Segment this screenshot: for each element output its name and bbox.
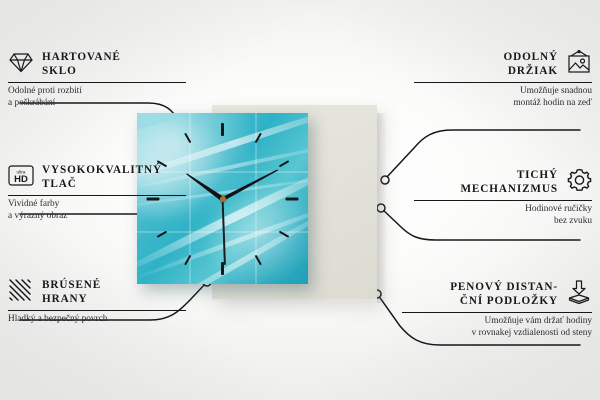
feature-foam-spacer-pads: PENOVÝ DISTAN- ČNÍ PODLOŽKY Umožňuje vám… (402, 280, 592, 340)
hour-marker (156, 230, 167, 237)
hatch-lines-icon (8, 278, 34, 302)
feature-divider (414, 82, 592, 83)
hands-center-cap (220, 196, 226, 202)
feature-subtitle: Hodinové ručičky bez zvuku (414, 204, 592, 227)
feature-divider (8, 195, 186, 196)
hour-marker (184, 254, 191, 265)
press-pad-icon (566, 280, 592, 304)
feature-subtitle: Umožňuje vám držať hodiny v rovnakej vzd… (402, 316, 592, 339)
feature-subtitle: Vividné farby a výrazný obraz (8, 199, 186, 222)
feature-title: PENOVÝ DISTAN- ČNÍ PODLOŽKY (402, 280, 558, 308)
feature-divider (8, 82, 186, 83)
infographic-canvas: HARTOVANÉ SKLO Odolné proti rozbití a po… (0, 0, 600, 400)
feature-divider (402, 312, 592, 313)
feature-title: ODOLNÝ DRŽIAK (414, 50, 558, 78)
feature-title: HARTOVANÉ SKLO (42, 50, 186, 78)
hour-marker (278, 230, 289, 237)
gear-icon (566, 168, 592, 192)
feature-silent-mechanism: TICHÝ MECHANIZMUS Hodinové ručičky bez z… (414, 168, 592, 228)
feature-subtitle: Umožňuje snadnou montáž hodin na zeď (414, 86, 592, 109)
hour-marker (254, 132, 261, 143)
ultra-hd-icon: ultra HD (8, 163, 34, 187)
hour-marker (221, 123, 224, 136)
diamond-icon (8, 50, 34, 74)
feature-title: TICHÝ MECHANIZMUS (414, 168, 558, 196)
feature-durable-hanger: ODOLNÝ DRŽIAK Umožňuje snadnou montáž ho… (414, 50, 592, 110)
hour-marker (286, 197, 299, 200)
feature-title: VYSOKOKVALITNÝ TLAČ (42, 163, 186, 191)
feature-divider (8, 310, 186, 311)
feature-subtitle: Odolné proti rozbití a poškrábání (8, 86, 186, 109)
hour-marker (278, 160, 289, 167)
feature-subtitle: Hladký a bezpečný povrch (8, 314, 186, 326)
feature-high-quality-print: ultra HD VYSOKOKVALITNÝ TLAČ Vividné far… (8, 163, 186, 223)
feature-divider (414, 200, 592, 201)
hour-marker (254, 254, 261, 265)
feature-title: BRÚSENÉ HRANY (42, 278, 186, 306)
hour-marker (184, 132, 191, 143)
ultra-hd-big-label: HD (14, 174, 28, 185)
feature-polished-edges: BRÚSENÉ HRANY Hladký a bezpečný povrch (8, 278, 186, 326)
feature-tempered-glass: HARTOVANÉ SKLO Odolné proti rozbití a po… (8, 50, 186, 110)
picture-frame-hanger-icon (566, 50, 592, 74)
